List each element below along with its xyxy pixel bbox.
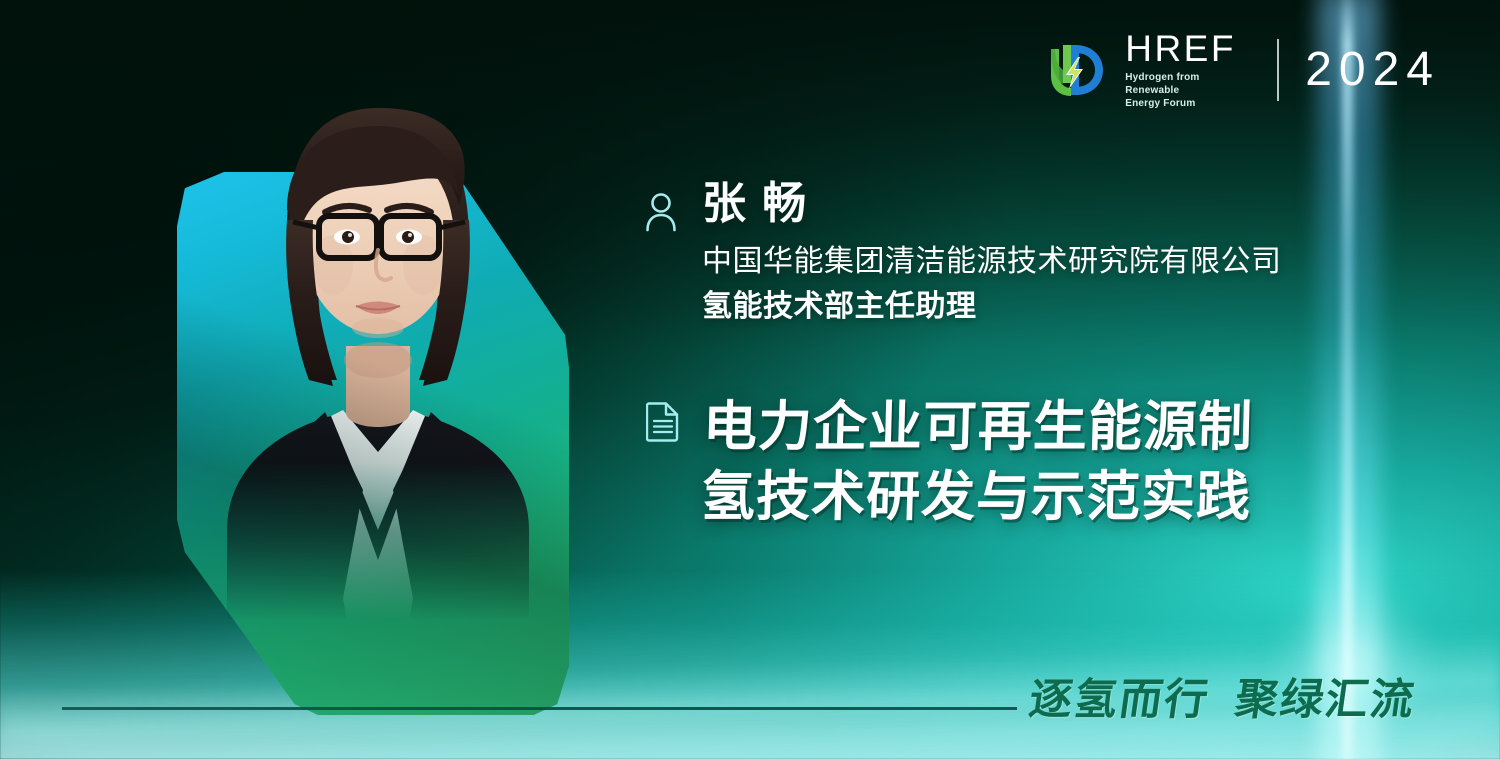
logo-subtitle-line2: Energy Forum <box>1125 98 1195 109</box>
topic-title-line1: 电力企业可再生能源制 <box>702 397 1254 457</box>
presentation-slide: 张 畅 中国华能集团清洁能源技术研究院有限公司 氢能技术部主任助理 电力企业可再… <box>0 0 1500 759</box>
avatar <box>213 60 543 620</box>
event-logo: HREF Hydrogen from RenewableEnergy Forum… <box>1045 30 1442 110</box>
event-year: 2024 <box>1305 46 1442 94</box>
topic-block: 电力企业可再生能源制氢技术研发与示范实践 <box>644 392 1464 532</box>
speaker-name: 张 畅 <box>702 178 1444 230</box>
speaker-role: 氢能技术部主任助理 <box>702 287 1444 326</box>
slogan-part-2: 聚绿汇流 <box>1232 676 1419 724</box>
slogan-part-1: 逐氢而行 <box>1026 676 1213 724</box>
href-logo-icon <box>1045 39 1107 101</box>
speaker-organization: 中国华能集团清洁能源技术研究院有限公司 <box>702 242 1444 281</box>
logo-text-block: HREF Hydrogen from RenewableEnergy Forum <box>1125 30 1245 110</box>
document-icon <box>646 400 680 442</box>
logo-divider <box>1277 39 1279 101</box>
logo-wordmark: HREF <box>1125 30 1245 67</box>
logo-subtitle: Hydrogen from RenewableEnergy Forum <box>1125 72 1245 110</box>
logo-subtitle-line1: Hydrogen from Renewable <box>1125 72 1199 96</box>
speaker-portrait-image <box>213 60 543 620</box>
footer-rule <box>62 707 1017 710</box>
person-icon <box>644 192 678 232</box>
speaker-portrait-block <box>120 60 590 680</box>
event-slogan: 逐氢而行聚绿汇流 <box>1026 665 1421 727</box>
speaker-name-row: 张 畅 <box>644 178 1444 230</box>
page-title: 电力企业可再生能源制氢技术研发与示范实践 <box>700 392 1444 532</box>
speaker-info: 张 畅 中国华能集团清洁能源技术研究院有限公司 氢能技术部主任助理 <box>644 178 1444 326</box>
topic-title-line2: 氢技术研发与示范实践 <box>700 467 1252 527</box>
